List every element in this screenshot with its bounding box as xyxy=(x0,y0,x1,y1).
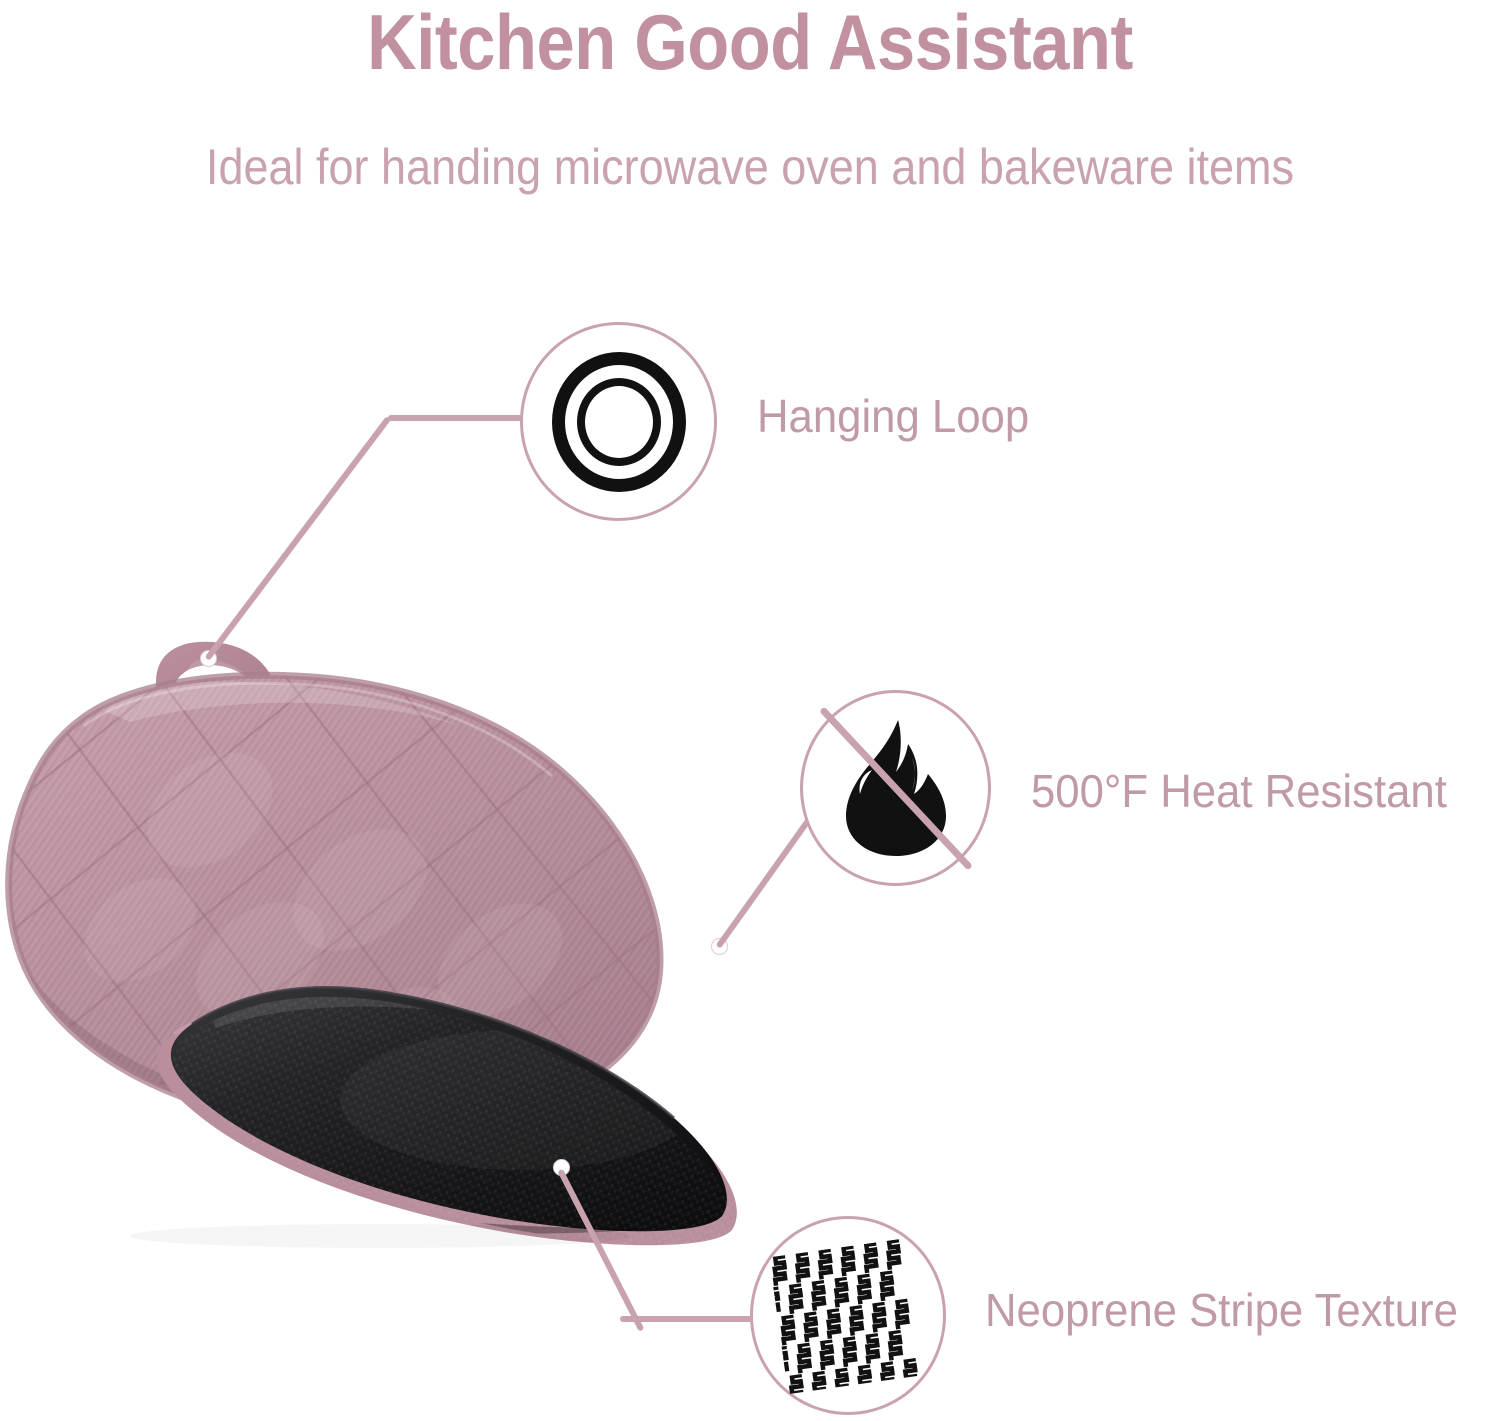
callout-label-hanging-loop: Hanging Loop xyxy=(757,389,1029,443)
page-subtitle: Ideal for handing microwave oven and bak… xyxy=(75,140,1425,195)
zigzag-glyph xyxy=(900,1357,927,1390)
callout-circle-heat-resistant[interactable] xyxy=(800,690,991,886)
infographic-canvas: Kitchen Good Assistant Ideal for handing… xyxy=(0,0,1500,1421)
callout-circle-neoprene-texture[interactable] xyxy=(750,1216,946,1415)
connector-diagonal-hanging-loop xyxy=(205,416,392,661)
connector-horizontal-neoprene-texture xyxy=(620,1316,760,1322)
zigzag-glyph xyxy=(885,1328,912,1361)
concentric-rings-icon-inner xyxy=(577,378,661,466)
callout-label-heat-resistant: 500°F Heat Resistant xyxy=(1031,764,1447,818)
connector-horizontal-hanging-loop xyxy=(388,415,524,421)
page-title: Kitchen Good Assistant xyxy=(90,2,1410,84)
zigzag-stripe-icon xyxy=(769,1237,927,1393)
callout-circle-hanging-loop[interactable] xyxy=(520,322,717,521)
zigzag-glyph xyxy=(876,1269,903,1302)
zigzag-glyph xyxy=(891,1297,918,1330)
zigzag-glyph xyxy=(883,1238,910,1271)
callout-label-neoprene-texture: Neoprene Stripe Texture xyxy=(985,1283,1458,1337)
product-image xyxy=(0,630,750,1250)
